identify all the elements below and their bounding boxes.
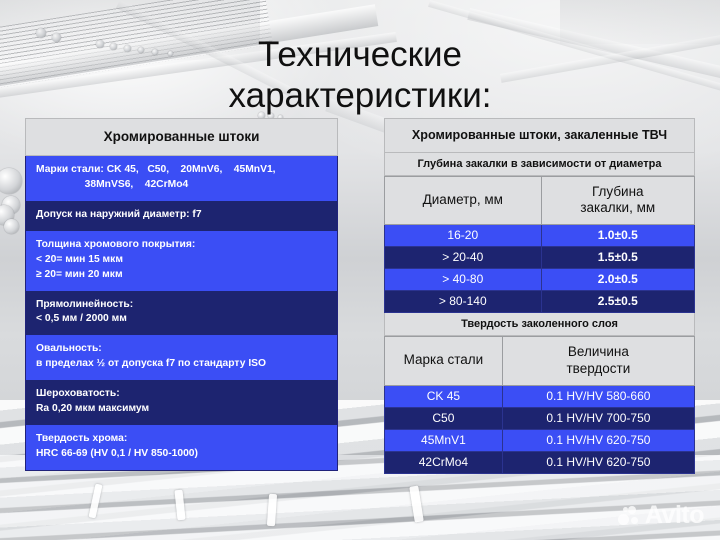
spec-line: Прямолинейность: (36, 298, 327, 313)
column-header-hardness-value: Величина твердости (502, 337, 694, 385)
table-row: 16-20 1.0±0.5 (385, 225, 695, 247)
cell-hardness: 0.1 HV/HV 700-750 (502, 407, 694, 429)
table-row: 42CrMo4 0.1 HV/HV 620-750 (385, 451, 695, 473)
right-spec-panel: Хромированные штоки, закаленные ТВЧ Глуб… (384, 118, 695, 474)
cell-diameter: > 20-40 (385, 247, 542, 269)
cell-diameter: > 80-140 (385, 291, 542, 313)
spec-row-chrome-thickness: Толщина хромового покрытия: < 20= мин 15… (25, 231, 338, 291)
hardening-depth-table: Диаметр, мм Глубина закалки, мм 16-20 1.… (384, 176, 695, 313)
cell-hardness: 0.1 HV/HV 620-750 (502, 429, 694, 451)
spec-line: Толщина хромового покрытия: (36, 238, 327, 253)
cell-steel-grade: CK 45 (385, 385, 503, 407)
table-row: > 20-40 1.5±0.5 (385, 247, 695, 269)
spec-line: Марки стали: CK 45, C50, 20MnV6, 45MnV1, (36, 163, 327, 178)
spec-line: HRC 66-69 (HV 0,1 / HV 850-1000) (36, 447, 327, 462)
cell-depth: 1.0±0.5 (541, 225, 694, 247)
spec-line: в пределах ½ от допуска f7 по стандарту … (36, 357, 327, 372)
left-panel-heading: Хромированные штоки (25, 118, 338, 156)
column-header-line: Глубина (544, 184, 692, 200)
table-row: C50 0.1 HV/HV 700-750 (385, 407, 695, 429)
depth-table-caption: Глубина закалки в зависимости от диаметр… (384, 153, 695, 176)
spec-row-outer-diameter-tolerance: Допуск на наружний диаметр: f7 (25, 201, 338, 231)
cell-diameter: > 40-80 (385, 269, 542, 291)
title-line-2: характеристики: (0, 76, 720, 117)
title-line-1: Технические (258, 35, 462, 74)
spec-row-chrome-hardness: Твердость хрома: HRC 66-69 (HV 0,1 / HV … (25, 425, 338, 471)
avito-wordmark: Avito (645, 503, 704, 528)
spec-line: Твердость хрома: (36, 432, 327, 447)
spec-row-roughness: Шероховатость: Ra 0,20 мкм максимум (25, 380, 338, 425)
cell-steel-grade: 45MnV1 (385, 429, 503, 451)
left-spec-panel: Хромированные штоки Марки стали: CK 45, … (25, 118, 338, 471)
spec-line: Овальность: (36, 342, 327, 357)
column-header-line: Марка стали (404, 352, 484, 367)
column-header-diameter: Диаметр, мм (385, 177, 542, 225)
cell-depth: 1.5±0.5 (541, 247, 694, 269)
column-header-depth: Глубина закалки, мм (541, 177, 694, 225)
spec-line: Допуск на наружний диаметр: f7 (36, 208, 327, 223)
table-row: 45MnV1 0.1 HV/HV 620-750 (385, 429, 695, 451)
table-row: CK 45 0.1 HV/HV 580-660 (385, 385, 695, 407)
cell-hardness: 0.1 HV/HV 580-660 (502, 385, 694, 407)
rod-end (0, 168, 22, 194)
spec-line: ≥ 20= мин 20 мкм (36, 268, 327, 283)
spec-line: Шероховатость: (36, 387, 327, 402)
right-panel-heading: Хромированные штоки, закаленные ТВЧ (384, 118, 695, 153)
table-header-row: Марка стали Величина твердости (385, 337, 695, 385)
avito-watermark: Avito (618, 503, 704, 528)
column-header-line: Величина (505, 344, 692, 360)
avito-dots-icon (618, 506, 640, 526)
spec-row-steel-grades: Марки стали: CK 45, C50, 20MnV6, 45MnV1,… (25, 156, 338, 201)
spec-line: < 0,5 мм / 2000 мм (36, 312, 327, 327)
cell-steel-grade: 42CrMo4 (385, 451, 503, 473)
column-header-line: твердости (505, 361, 692, 377)
rod-end (4, 219, 19, 234)
table-row: > 80-140 2.5±0.5 (385, 291, 695, 313)
table-row: > 40-80 2.0±0.5 (385, 269, 695, 291)
surface-hardness-table: Марка стали Величина твердости CK 45 0.1… (384, 336, 695, 473)
slide-canvas: Технические характеристики: Хромированны… (0, 0, 720, 540)
page-title: Технические характеристики: (0, 35, 720, 116)
cell-diameter: 16-20 (385, 225, 542, 247)
spec-row-straightness: Прямолинейность: < 0,5 мм / 2000 мм (25, 291, 338, 336)
table-header-row: Диаметр, мм Глубина закалки, мм (385, 177, 695, 225)
spec-line: 38MnVS6, 42CrMo4 (36, 178, 327, 193)
cell-depth: 2.0±0.5 (541, 269, 694, 291)
cell-depth: 2.5±0.5 (541, 291, 694, 313)
cell-steel-grade: C50 (385, 407, 503, 429)
cell-hardness: 0.1 HV/HV 620-750 (502, 451, 694, 473)
spec-line: < 20= мин 15 мкм (36, 253, 327, 268)
hardness-table-caption: Твердость заколенного слоя (384, 313, 695, 336)
column-header-steel-grade: Марка стали (385, 337, 503, 385)
spec-line: Ra 0,20 мкм максимум (36, 402, 327, 417)
spec-row-ovality: Овальность: в пределах ½ от допуска f7 п… (25, 335, 338, 380)
column-header-line: закалки, мм (544, 200, 692, 216)
column-header-line: Диаметр, мм (423, 192, 503, 207)
